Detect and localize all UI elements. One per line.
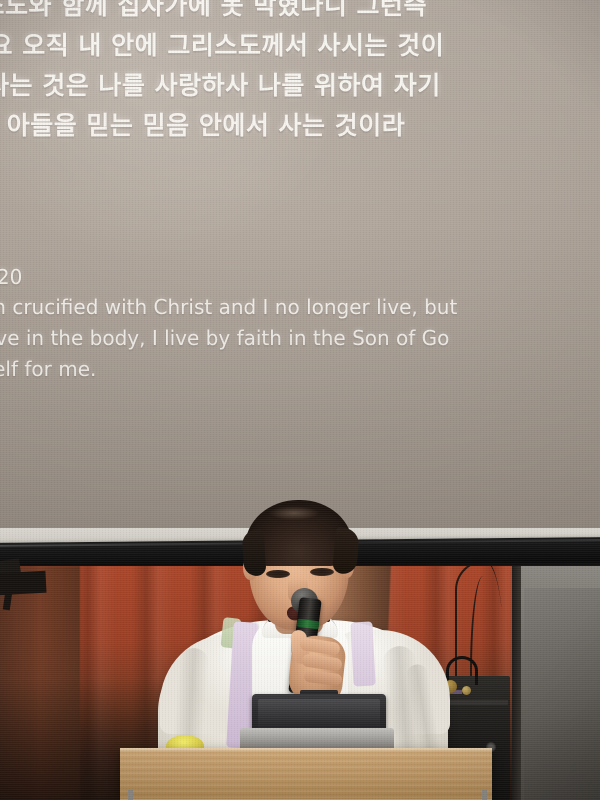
- tablet-screen: [258, 699, 380, 729]
- photo-scene: 리스도와 함께 십자가에 못 박혔나니 그런즉 니요 오직 내 안에 그리스도께…: [0, 0, 600, 800]
- pulpit-leg-left: [128, 790, 133, 800]
- stole-right: [350, 621, 375, 686]
- eye-right: [310, 568, 334, 576]
- hair-side-left: [241, 529, 266, 576]
- hair-highlight: [268, 506, 320, 520]
- hair-side-right: [332, 527, 360, 575]
- wooden-pulpit: [120, 748, 492, 800]
- pulpit-wood-grain: [120, 748, 492, 800]
- eye-left: [266, 570, 290, 578]
- preacher-figure: [0, 0, 600, 800]
- pulpit-leg-right: [482, 790, 487, 800]
